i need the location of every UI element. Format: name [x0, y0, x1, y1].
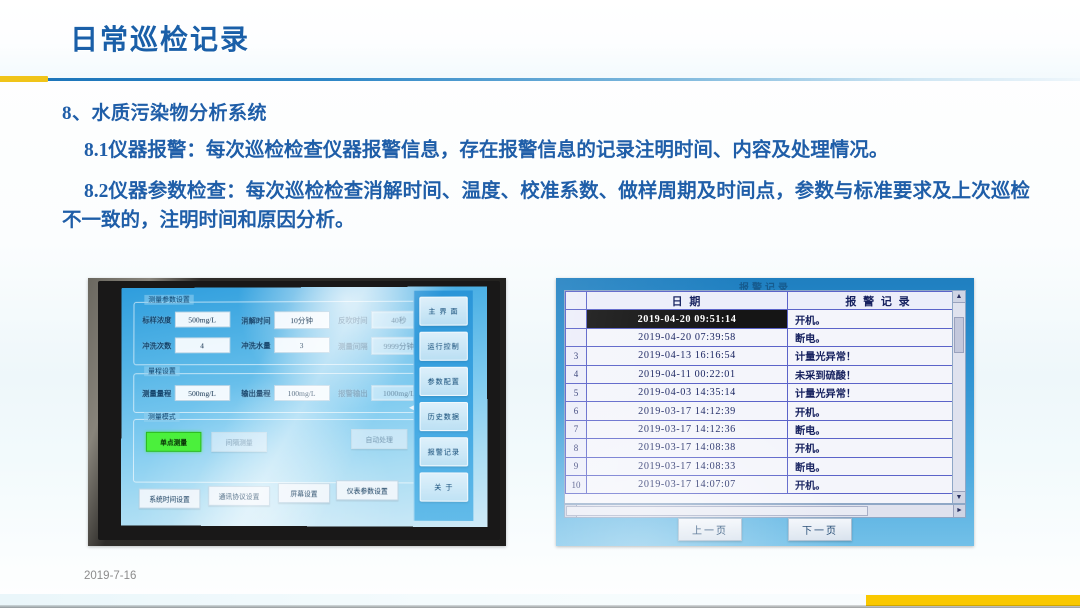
table-row[interactable]: 4 2019-04-11 00:22:01 未采到硫酸！ — [566, 365, 965, 383]
divider-yellow-tab — [0, 76, 48, 82]
paragraph-8-1: 8.1仪器报警：每次巡检检查仪器报警信息，存在报警信息的记录注明时间、内容及处理… — [62, 137, 1030, 166]
row-index: 8 — [566, 439, 587, 457]
row-date: 2019-03-17 14:12:36 — [587, 420, 788, 438]
row-index: 9 — [566, 457, 587, 475]
chevron-left-icon: ◄ — [407, 403, 415, 412]
field-value[interactable]: 100mg/L — [274, 385, 330, 401]
row-index — [566, 328, 587, 346]
row-index: 5 — [566, 383, 587, 401]
field-value[interactable]: 10分钟 — [274, 311, 330, 329]
row-index: 10 — [566, 475, 587, 493]
header-divider — [0, 76, 1080, 82]
group-measure-params: 测量参数设置 标样浓度 500mg/L 消解时间 10分钟 — [133, 301, 428, 366]
field-label: 消解时间 — [241, 315, 270, 326]
table-row[interactable]: 10 2019-03-17 14:07:07 开机。 — [566, 475, 965, 493]
col-header-record: 报 警 记 录 — [788, 292, 965, 310]
photo-row: 测量参数设置 标样浓度 500mg/L 消解时间 10分钟 — [0, 278, 1080, 546]
row-index: 3 — [566, 347, 587, 365]
paragraph-8-2: 8.2仪器参数检查：每次巡检检查消解时间、温度、校准系数、做样周期及时间点，参数… — [62, 178, 1030, 236]
row-date: 2019-04-20 07:39:58 — [587, 328, 788, 346]
field-label: 输出量程 — [241, 388, 270, 399]
row-index — [566, 310, 587, 328]
row-date: 2019-03-17 14:12:39 — [587, 402, 788, 420]
row-record: 计量光异常！ — [788, 383, 965, 401]
row-record: 开机。 — [788, 402, 965, 420]
device-bezel: 测量参数设置 标样浓度 500mg/L 消解时间 10分钟 — [98, 281, 500, 540]
field-label: 冲洗次数 — [142, 340, 171, 351]
photo-instrument-parameters: 测量参数设置 标样浓度 500mg/L 消解时间 10分钟 — [88, 278, 506, 546]
row-record: 开机。 — [788, 310, 965, 328]
section-heading: 8、水质污染物分析系统 — [62, 98, 1080, 125]
row-record: 未采到硫酸！ — [788, 365, 965, 383]
mode-button-auto-process[interactable]: 自动处理 — [351, 429, 407, 449]
device-frame: 测量参数设置 标样浓度 500mg/L 消解时间 10分钟 — [88, 278, 506, 546]
mode-button-interval[interactable]: 间隔测量 — [211, 432, 267, 452]
row-record: 计量光异常！ — [788, 347, 965, 365]
field-rinse-volume[interactable]: 冲洗水量 3 — [241, 337, 329, 353]
field-standard-concentration[interactable]: 标样浓度 500mg/L — [142, 311, 230, 327]
scroll-down-icon[interactable]: ▼ — [953, 491, 965, 503]
row-index: 7 — [566, 420, 587, 438]
next-page-button[interactable]: 下一页 — [788, 518, 852, 541]
row-date: 2019-03-17 14:08:38 — [587, 439, 788, 457]
field-label: 冲洗水量 — [241, 340, 270, 351]
field-value[interactable]: 4 — [174, 337, 230, 353]
group-measure-mode-title: 测量模式 — [144, 412, 180, 422]
row-date: 2019-03-17 14:08:33 — [587, 457, 788, 475]
bottom-button-screen-settings[interactable]: 屏幕设置 — [278, 483, 330, 503]
row-date: 2019-04-20 09:51:14 — [587, 310, 788, 328]
group-measure-mode: 测量模式 单点测量 间隔测量 自动处理 — [133, 419, 429, 484]
col-header-index — [566, 292, 587, 310]
bottom-button-system-time[interactable]: 系统时间设置 — [139, 489, 200, 509]
device-side-nav: ◄ 主 界 面 运行控制 参数配置 历史数据 报警记录 关 于 — [413, 290, 473, 521]
alarm-table-body: 2019-04-20 09:51:14 开机。 2019-04-20 07:39… — [566, 310, 965, 494]
field-digestion-time[interactable]: 消解时间 10分钟 — [241, 311, 329, 329]
table-row[interactable]: 6 2019-03-17 14:12:39 开机。 — [566, 402, 965, 420]
row-date: 2019-04-03 14:35:14 — [587, 383, 788, 401]
field-label: 报警输出 — [338, 387, 368, 398]
row-date: 2019-03-17 14:07:07 — [587, 475, 788, 493]
row-record: 开机。 — [788, 475, 965, 493]
divider-blue-line — [0, 78, 1080, 81]
table-row[interactable]: 2019-04-20 09:51:14 开机。 — [566, 310, 965, 328]
table-row[interactable]: 7 2019-03-17 14:12:36 断电。 — [566, 420, 965, 438]
row-date: 2019-04-11 00:22:01 — [587, 365, 788, 383]
bottom-button-meter-params[interactable]: 仪表参数设置 — [336, 480, 398, 500]
row-record: 开机。 — [788, 439, 965, 457]
row-record: 断电。 — [788, 420, 965, 438]
slide-root: 日常巡检记录 8、水质污染物分析系统 8.1仪器报警：每次巡检检查仪器报警信息，… — [0, 0, 1080, 608]
scroll-up-icon[interactable]: ▲ — [953, 291, 965, 303]
row-index: 4 — [566, 365, 587, 383]
vertical-scrollbar[interactable]: ▲ ▼ — [952, 290, 966, 504]
param-panel: 测量参数设置 标样浓度 500mg/L 消解时间 10分钟 — [125, 289, 409, 523]
alarm-pager: 上一页 下一页 — [556, 518, 974, 541]
device-screen: 测量参数设置 标样浓度 500mg/L 消解时间 10分钟 — [121, 286, 488, 527]
page-title: 日常巡检记录 — [70, 18, 250, 58]
table-row[interactable]: 9 2019-03-17 14:08:33 断电。 — [566, 457, 965, 475]
row-record: 断电。 — [788, 457, 965, 475]
alarm-screen: 报警记录 日 期 报 警 记 录 — [556, 278, 974, 546]
group-range: 量程设置 测量量程 500mg/L 输出量程 100mg/L — [133, 373, 428, 413]
row-record: 断电。 — [788, 328, 965, 346]
group-measure-params-title: 测量参数设置 — [144, 295, 193, 305]
slide-header: 日常巡检记录 — [0, 0, 1080, 78]
alarm-table: 日 期 报 警 记 录 2019-04-20 09:51:14 开机。 — [565, 291, 965, 494]
scrollbar-thumb-h[interactable] — [566, 506, 868, 516]
field-label: 测量间隔 — [338, 340, 368, 351]
horizontal-scrollbar[interactable]: ◄ ► — [564, 504, 966, 518]
side-button-history[interactable]: 历史数据 — [419, 402, 468, 431]
table-row[interactable]: 2019-04-20 07:39:58 断电。 — [566, 328, 965, 346]
field-label: 测量量程 — [142, 388, 171, 399]
slide-body: 8、水质污染物分析系统 8.1仪器报警：每次巡检检查仪器报警信息，存在报警信息的… — [0, 88, 1080, 236]
col-header-date: 日 期 — [587, 292, 788, 310]
side-button-param-config[interactable]: 参数配置 — [419, 367, 468, 396]
field-label: 反吹时间 — [338, 314, 368, 325]
table-row[interactable]: 3 2019-04-13 16:16:54 计量光异常！ — [566, 347, 965, 365]
footer-date: 2019-7-16 — [84, 570, 136, 582]
mode-button-single-point[interactable]: 单点测量 — [146, 432, 201, 452]
bottom-button-comm-protocol[interactable]: 通讯协议设置 — [208, 486, 270, 506]
table-row[interactable]: 5 2019-04-03 14:35:14 计量光异常！ — [566, 383, 965, 401]
field-output-range[interactable]: 输出量程 100mg/L — [241, 385, 329, 401]
field-rinse-count[interactable]: 冲洗次数 4 — [142, 337, 230, 353]
field-value[interactable]: 3 — [274, 337, 330, 353]
field-value[interactable]: 500mg/L — [174, 385, 230, 401]
table-header-row: 日 期 报 警 记 录 — [566, 292, 965, 310]
scrollbar-thumb[interactable] — [954, 317, 964, 353]
group-range-title: 量程设置 — [144, 366, 180, 376]
side-button-main[interactable]: 主 界 面 — [419, 296, 468, 325]
row-index: 6 — [566, 402, 587, 420]
row-date: 2019-04-13 16:16:54 — [587, 347, 788, 365]
field-value[interactable]: 500mg/L — [174, 311, 229, 327]
prev-page-button[interactable]: 上一页 — [678, 518, 742, 541]
alarm-table-wrap: 日 期 报 警 记 录 2019-04-20 09:51:14 开机。 — [564, 290, 966, 504]
table-row[interactable]: 8 2019-03-17 14:08:38 开机。 — [566, 439, 965, 457]
scroll-right-icon[interactable]: ► — [953, 505, 965, 517]
field-label: 标样浓度 — [142, 314, 171, 325]
side-button-run-control[interactable]: 运行控制 — [419, 332, 468, 361]
field-measure-range[interactable]: 测量量程 500mg/L — [142, 385, 230, 401]
side-button-alarm-record[interactable]: 报警记录 — [420, 437, 469, 466]
side-button-about[interactable]: 关 于 — [420, 472, 469, 501]
photo-alarm-records: 报警记录 日 期 报 警 记 录 — [556, 278, 974, 546]
